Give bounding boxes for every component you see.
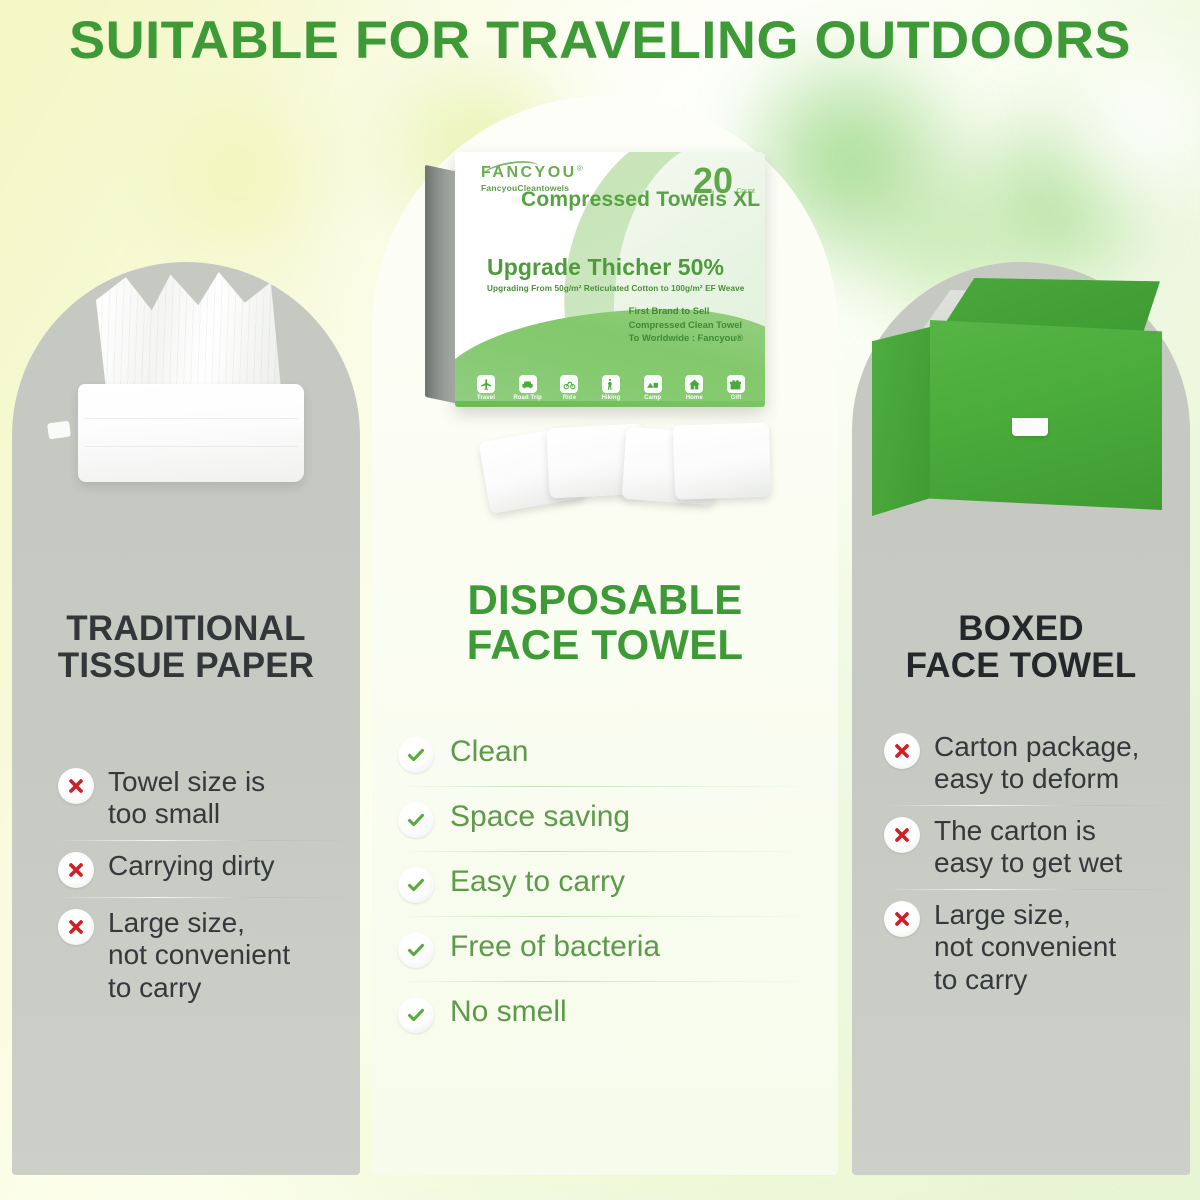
feature-item-label: Large size,not convenientto carry	[108, 907, 290, 1004]
feature-item-label: Carton package,easy to deform	[934, 731, 1139, 796]
x-mark-icon	[884, 817, 920, 853]
carton-towel-tongue	[1012, 418, 1048, 436]
feature-item: Free of bacteria	[398, 917, 818, 981]
feature-item-label: Easy to carry	[450, 865, 625, 898]
airplane-icon	[477, 375, 495, 393]
traditional-tissue-pack-image	[58, 272, 320, 504]
check-icon	[398, 997, 434, 1033]
car-icon	[519, 375, 537, 393]
feature-item: Carrying dirty	[58, 841, 358, 897]
check-icon	[398, 867, 434, 903]
column-title-boxed: BOXEDFACE TOWEL	[852, 610, 1190, 684]
feature-item-label: Carrying dirty	[108, 850, 274, 882]
gift-icon	[727, 375, 745, 393]
brand-name: FANCYOU	[481, 164, 577, 182]
usage-icon-travel: Travel	[469, 375, 503, 401]
feature-item: No smell	[398, 982, 818, 1046]
usage-icon-camp: Camp	[636, 375, 670, 401]
usage-icon-hiking: Hiking	[594, 375, 628, 401]
feature-item-label: Free of bacteria	[450, 930, 660, 963]
bokeh-blob	[120, 90, 360, 260]
feature-item: Clean	[398, 722, 818, 786]
infographic-canvas: SUITABLE FOR TRAVELING OUTDOORS FANCYOU®…	[0, 0, 1200, 1200]
box-upgrade-headline: Upgrade Thicher 50%	[487, 254, 724, 281]
feature-list-disposable: CleanSpace savingEasy to carryFree of ba…	[398, 722, 818, 1046]
feature-item: Space saving	[398, 787, 818, 851]
tissue-pack-tab	[47, 421, 71, 440]
column-title-disposable: DISPOSABLEFACE TOWEL	[372, 578, 838, 667]
towel-tablet	[673, 422, 772, 499]
feature-item: Large size,not convenientto carry	[884, 890, 1184, 1005]
compressed-towels-box-image: FANCYOU® FancyouCleantowels Compressed T…	[425, 152, 765, 424]
feature-item: Large size,not convenientto carry	[58, 898, 358, 1013]
usage-label: Road Trip	[513, 395, 542, 401]
x-mark-icon	[58, 852, 94, 888]
feature-item-label: The carton iseasy to get wet	[934, 815, 1122, 880]
feature-item-label: Clean	[450, 735, 528, 768]
box-front-panel: FANCYOU® FancyouCleantowels Compressed T…	[455, 152, 765, 407]
feature-list-traditional: Towel size istoo smallCarrying dirtyLarg…	[58, 757, 358, 1013]
tent-icon	[644, 375, 662, 393]
usage-label: Camp	[644, 395, 661, 401]
usage-label: Gift	[731, 395, 742, 401]
tissue-sheets	[96, 272, 282, 400]
feature-item-label: Large size,not convenientto carry	[934, 899, 1116, 996]
usage-label: Hiking	[602, 395, 621, 401]
feature-item-label: Space saving	[450, 800, 630, 833]
feature-item: The carton iseasy to get wet	[884, 806, 1184, 889]
x-mark-icon	[58, 909, 94, 945]
box-side-panel	[425, 165, 459, 404]
usage-icon-home: Home	[677, 375, 711, 401]
box-count-number: 20	[693, 160, 733, 202]
registered-mark-icon: ®	[577, 164, 583, 173]
usage-icon-ride: Ride	[552, 375, 586, 401]
box-upgrade-fineprint: Upgrading From 50g/m² Reticulated Cotton…	[487, 284, 744, 293]
x-mark-icon	[884, 901, 920, 937]
hiking-icon	[602, 375, 620, 393]
usage-label: Travel	[477, 395, 495, 401]
tissue-pack-body	[78, 384, 304, 482]
feature-item: Carton package,easy to deform	[884, 722, 1184, 805]
box-count-label: Count	[736, 188, 755, 195]
carton-side-panel	[872, 326, 934, 516]
home-icon	[685, 375, 703, 393]
feature-item-label: No smell	[450, 995, 567, 1028]
carton-front-panel	[930, 320, 1162, 510]
green-boxed-face-towel-image	[872, 278, 1172, 528]
feature-item-label: Towel size istoo small	[108, 766, 265, 831]
compressed-towel-tablets	[478, 412, 778, 522]
usage-icon-gift: Gift	[719, 375, 753, 401]
x-mark-icon	[884, 733, 920, 769]
feature-list-boxed: Carton package,easy to deformThe carton …	[884, 722, 1184, 1005]
feature-item: Easy to carry	[398, 852, 818, 916]
usage-label: Ride	[563, 395, 576, 401]
usage-icon-road-trip: Road Trip	[511, 375, 545, 401]
usage-label: Home	[686, 395, 703, 401]
check-icon	[398, 737, 434, 773]
bicycle-icon	[560, 375, 578, 393]
column-title-traditional: TRADITIONALTISSUE PAPER	[12, 610, 360, 684]
feature-item: Towel size istoo small	[58, 757, 358, 840]
check-icon	[398, 932, 434, 968]
check-icon	[398, 802, 434, 838]
box-usage-icon-row: Travel Road Trip Ride Hiking Camp	[469, 375, 753, 401]
box-brand-claim: First Brand to SellCompressed Clean Towe…	[629, 304, 743, 345]
page-headline: SUITABLE FOR TRAVELING OUTDOORS	[0, 10, 1200, 71]
x-mark-icon	[58, 768, 94, 804]
